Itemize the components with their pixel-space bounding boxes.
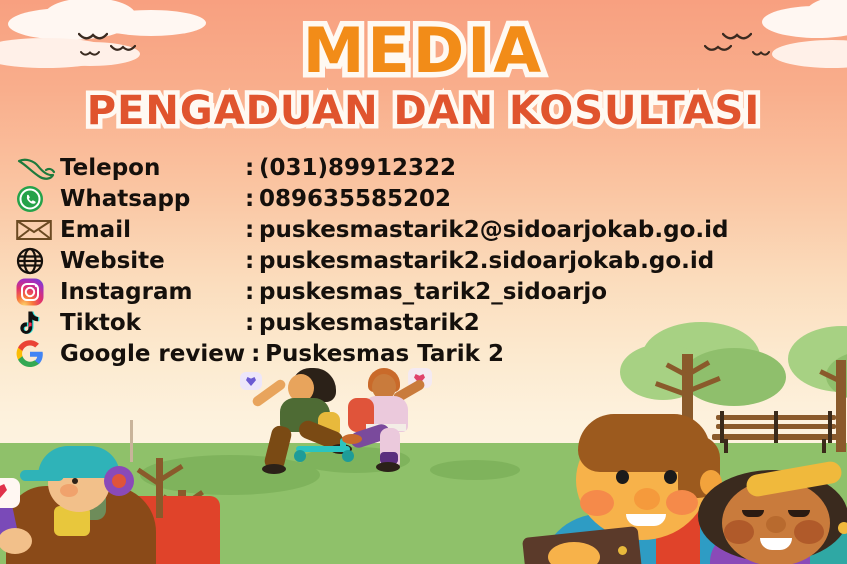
bare-branch bbox=[160, 464, 183, 481]
hand bbox=[548, 542, 600, 564]
email-icon bbox=[16, 216, 60, 244]
whatsapp-icon bbox=[16, 185, 60, 213]
tiktok-icon bbox=[16, 309, 60, 337]
shoe bbox=[376, 462, 400, 472]
cap-brim bbox=[20, 470, 64, 481]
contact-label: Tiktok bbox=[60, 310, 245, 336]
contact-value-google-review[interactable]: Puskesmas Tarik 2 bbox=[265, 341, 504, 367]
shoe bbox=[262, 464, 286, 474]
contact-row-email: Email : puskesmastarik2@sidoarjokab.go.i… bbox=[16, 214, 728, 245]
contact-value-instagram[interactable]: puskesmas_tarik2_sidoarjo bbox=[259, 279, 607, 305]
nose bbox=[766, 516, 786, 533]
contact-label: Telepon bbox=[60, 155, 245, 181]
globe-icon bbox=[16, 247, 60, 275]
contact-value-telepon[interactable]: (031)89912322 bbox=[259, 155, 456, 181]
contact-separator: : bbox=[245, 310, 259, 336]
cheek bbox=[794, 520, 824, 544]
eye bbox=[616, 470, 629, 484]
page-subtitle: PENGADUAN DAN KOSULTASI bbox=[0, 90, 847, 132]
contact-separator: : bbox=[245, 186, 259, 212]
phone-icon bbox=[16, 154, 60, 182]
contact-row-google-review: Google review : Puskesmas Tarik 2 bbox=[16, 338, 728, 369]
eye bbox=[788, 510, 810, 517]
eye bbox=[72, 478, 78, 484]
contact-row-telepon: Telepon : (031)89912322 bbox=[16, 152, 728, 183]
contact-separator: : bbox=[245, 217, 259, 243]
eye bbox=[664, 470, 677, 484]
person-running-right bbox=[346, 366, 448, 470]
contact-value-whatsapp[interactable]: 089635585202 bbox=[259, 186, 451, 212]
contact-separator: : bbox=[245, 279, 259, 305]
eye bbox=[742, 510, 764, 517]
contact-list: Telepon : (031)89912322 Whatsapp : 08963… bbox=[16, 152, 728, 369]
cheek bbox=[580, 490, 614, 516]
contact-separator: : bbox=[245, 155, 259, 181]
headphone-inner bbox=[112, 474, 126, 488]
cheek bbox=[724, 520, 754, 544]
earring bbox=[838, 522, 847, 534]
google-icon bbox=[16, 340, 60, 368]
contact-label: Website bbox=[60, 248, 245, 274]
cheek bbox=[60, 484, 78, 497]
bare-branch bbox=[156, 458, 163, 518]
person-foreground-girl bbox=[690, 470, 847, 564]
contact-separator: : bbox=[245, 248, 259, 274]
contact-label: Email bbox=[60, 217, 245, 243]
instagram-icon bbox=[16, 278, 60, 306]
contact-label: Google review bbox=[60, 341, 251, 367]
contact-value-tiktok[interactable]: puskesmastarik2 bbox=[259, 310, 480, 336]
shoe bbox=[342, 434, 362, 444]
page-title: MEDIA bbox=[0, 20, 847, 82]
contact-label: Instagram bbox=[60, 279, 245, 305]
tablet-camera bbox=[618, 546, 627, 555]
person-foreground-left bbox=[0, 440, 256, 564]
poster-titles: MEDIA PENGADUAN DAN KOSULTASI bbox=[0, 20, 847, 132]
contact-row-tiktok: Tiktok : puskesmastarik2 bbox=[16, 307, 728, 338]
nose bbox=[634, 488, 660, 510]
mouth bbox=[626, 514, 666, 526]
contact-separator: : bbox=[251, 341, 265, 367]
contact-value-email[interactable]: puskesmastarik2@sidoarjokab.go.id bbox=[259, 217, 728, 243]
contact-row-instagram: Instagram : puskesmas_tarik2_sidoarjo bbox=[16, 276, 728, 307]
contact-row-website: Website : puskesmastarik2.sidoarjokab.go… bbox=[16, 245, 728, 276]
contact-label: Whatsapp bbox=[60, 186, 245, 212]
contact-value-website[interactable]: puskesmastarik2.sidoarjokab.go.id bbox=[259, 248, 714, 274]
contact-row-whatsapp: Whatsapp : 089635585202 bbox=[16, 183, 728, 214]
poster-canvas: MEDIA PENGADUAN DAN KOSULTASI Telepon : … bbox=[0, 0, 847, 564]
